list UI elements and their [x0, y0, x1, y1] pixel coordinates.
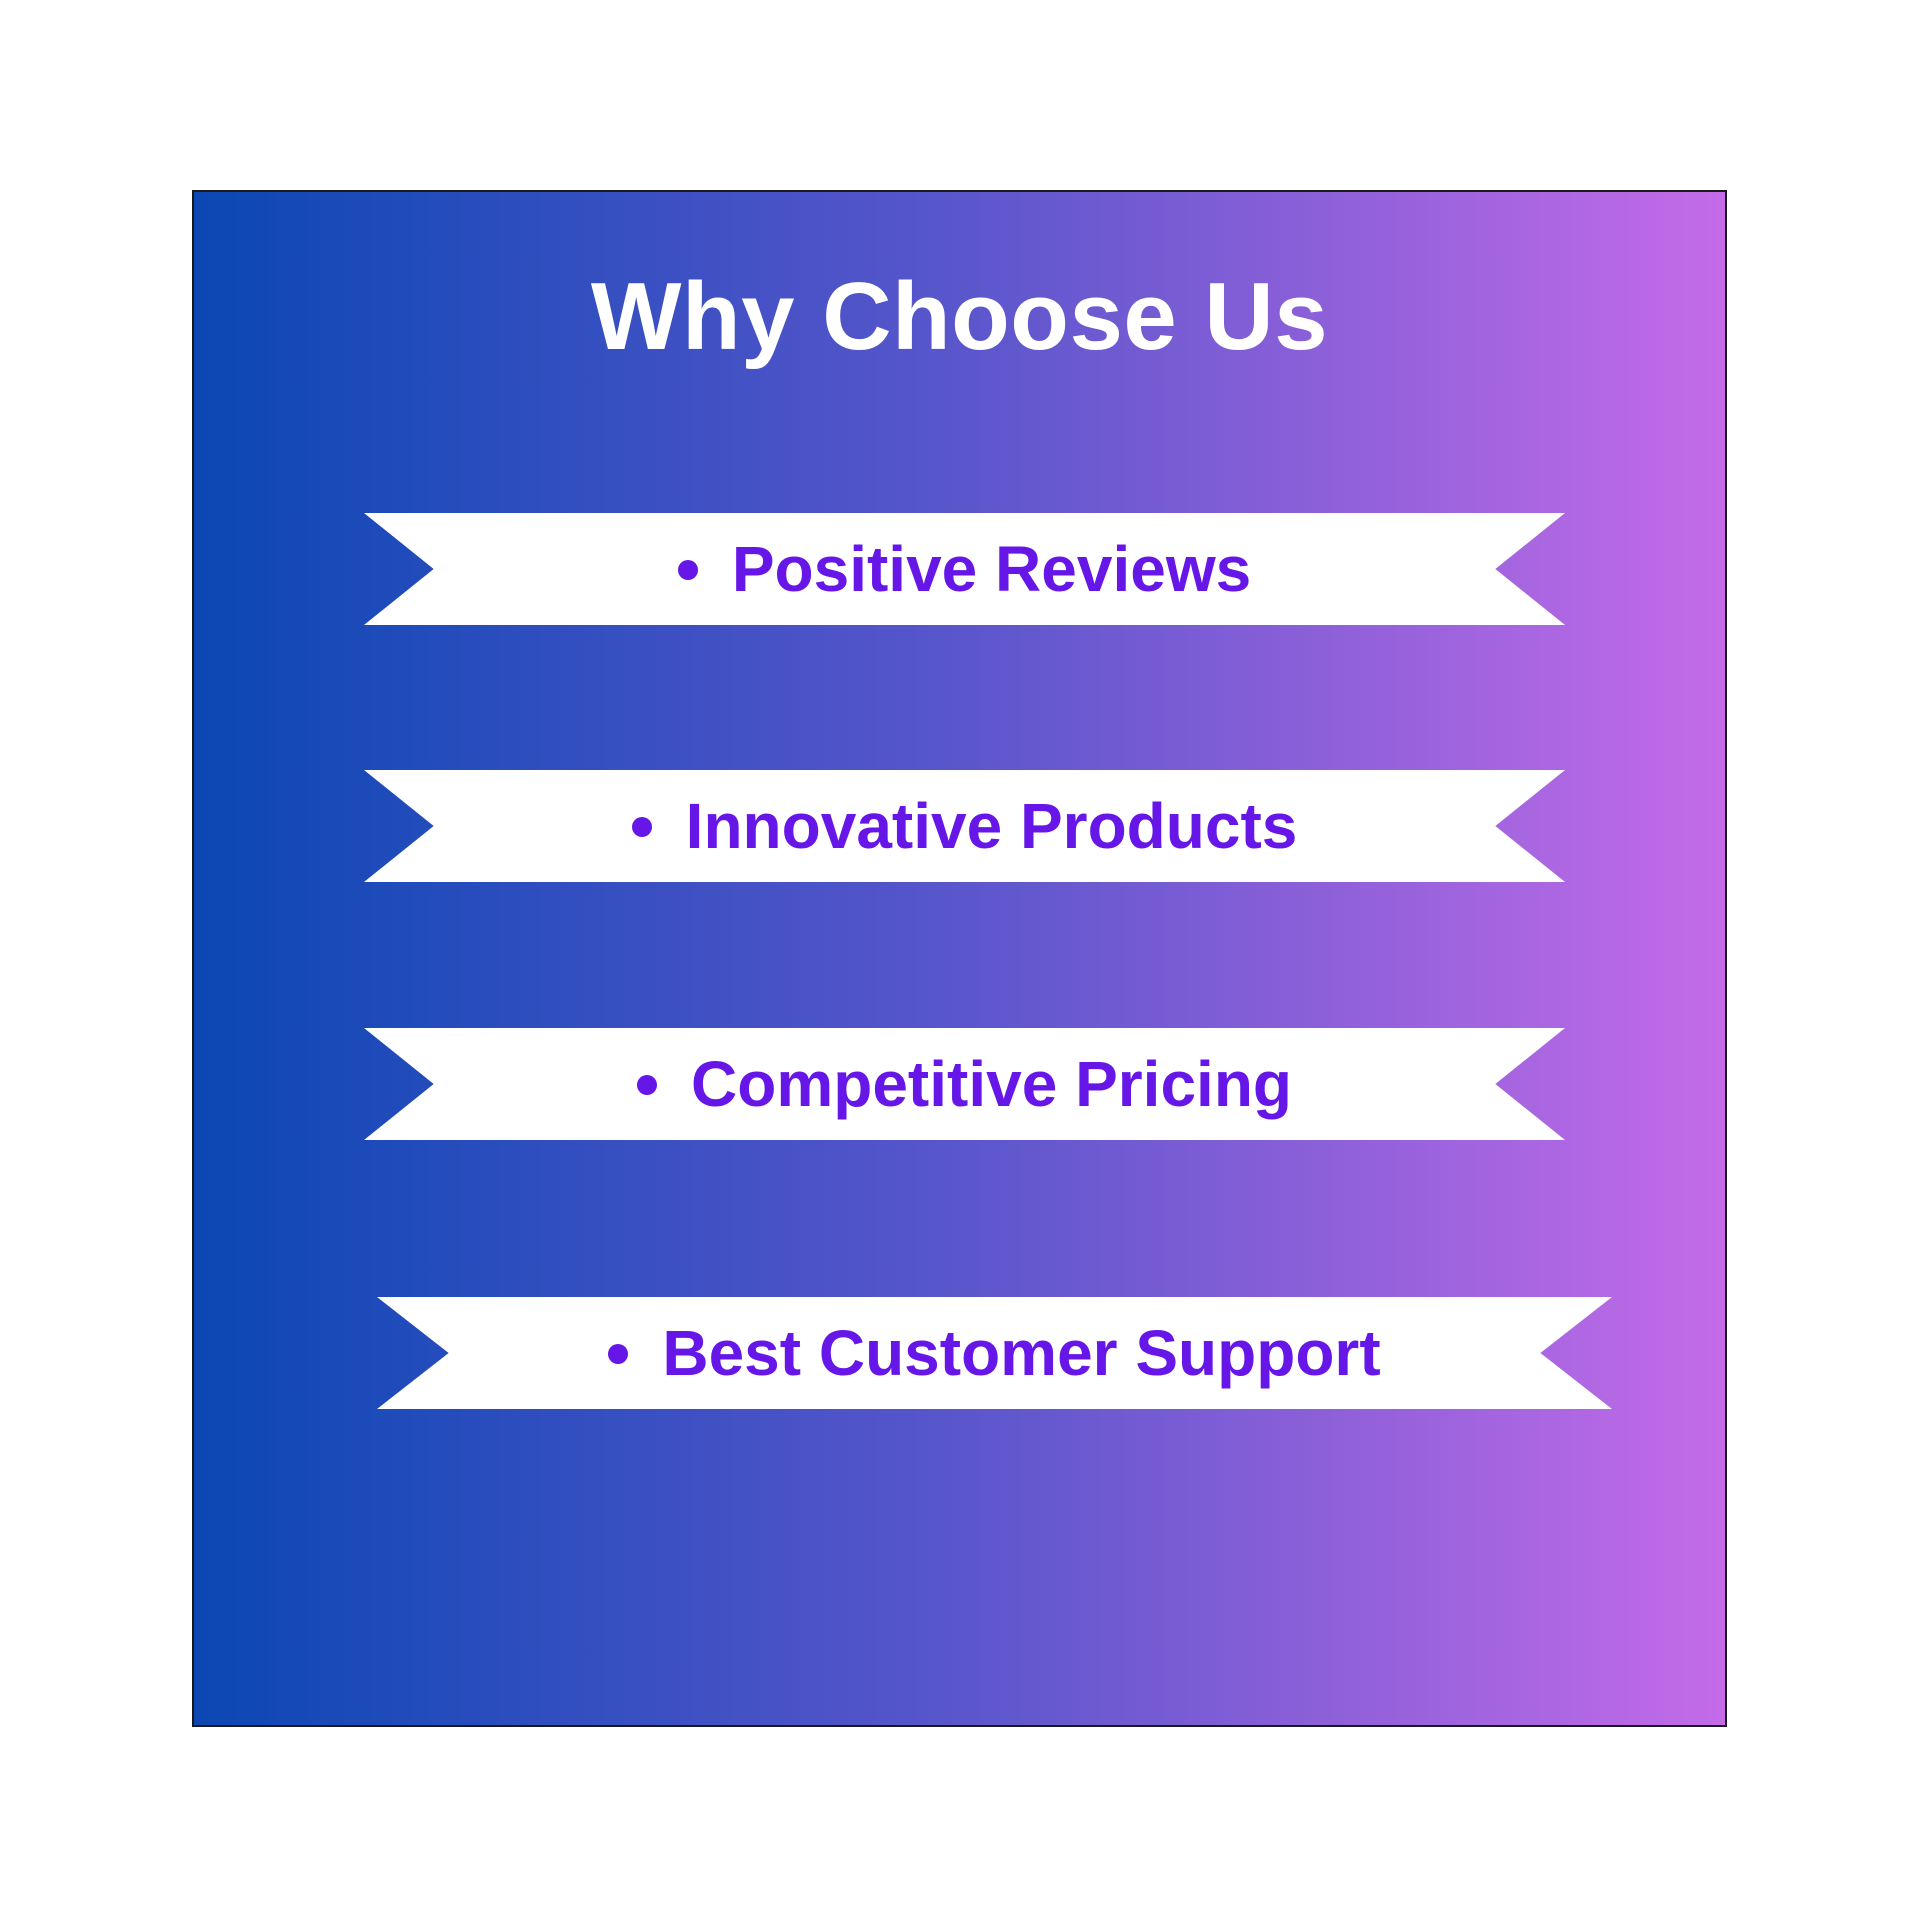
- feature-ribbon-content: Positive Reviews: [678, 537, 1251, 601]
- slide-canvas: Why Choose Us Positive Reviews Innovativ…: [0, 0, 1920, 1920]
- bullet-icon: [632, 817, 652, 837]
- page-title: Why Choose Us: [194, 267, 1725, 368]
- feature-label: Innovative Products: [686, 794, 1298, 858]
- feature-label: Positive Reviews: [732, 537, 1251, 601]
- feature-ribbon[interactable]: Competitive Pricing: [364, 1028, 1565, 1140]
- feature-ribbon-content: Best Customer Support: [608, 1321, 1380, 1385]
- bullet-icon: [637, 1075, 657, 1095]
- feature-ribbon[interactable]: Best Customer Support: [377, 1297, 1612, 1409]
- feature-label: Competitive Pricing: [691, 1052, 1292, 1116]
- feature-ribbon-content: Innovative Products: [632, 794, 1298, 858]
- bullet-icon: [608, 1344, 628, 1364]
- feature-ribbon[interactable]: Innovative Products: [364, 770, 1565, 882]
- feature-ribbon-content: Competitive Pricing: [637, 1052, 1292, 1116]
- feature-label: Best Customer Support: [662, 1321, 1380, 1385]
- gradient-panel: Why Choose Us Positive Reviews Innovativ…: [192, 190, 1727, 1727]
- bullet-icon: [678, 560, 698, 580]
- feature-ribbon[interactable]: Positive Reviews: [364, 513, 1565, 625]
